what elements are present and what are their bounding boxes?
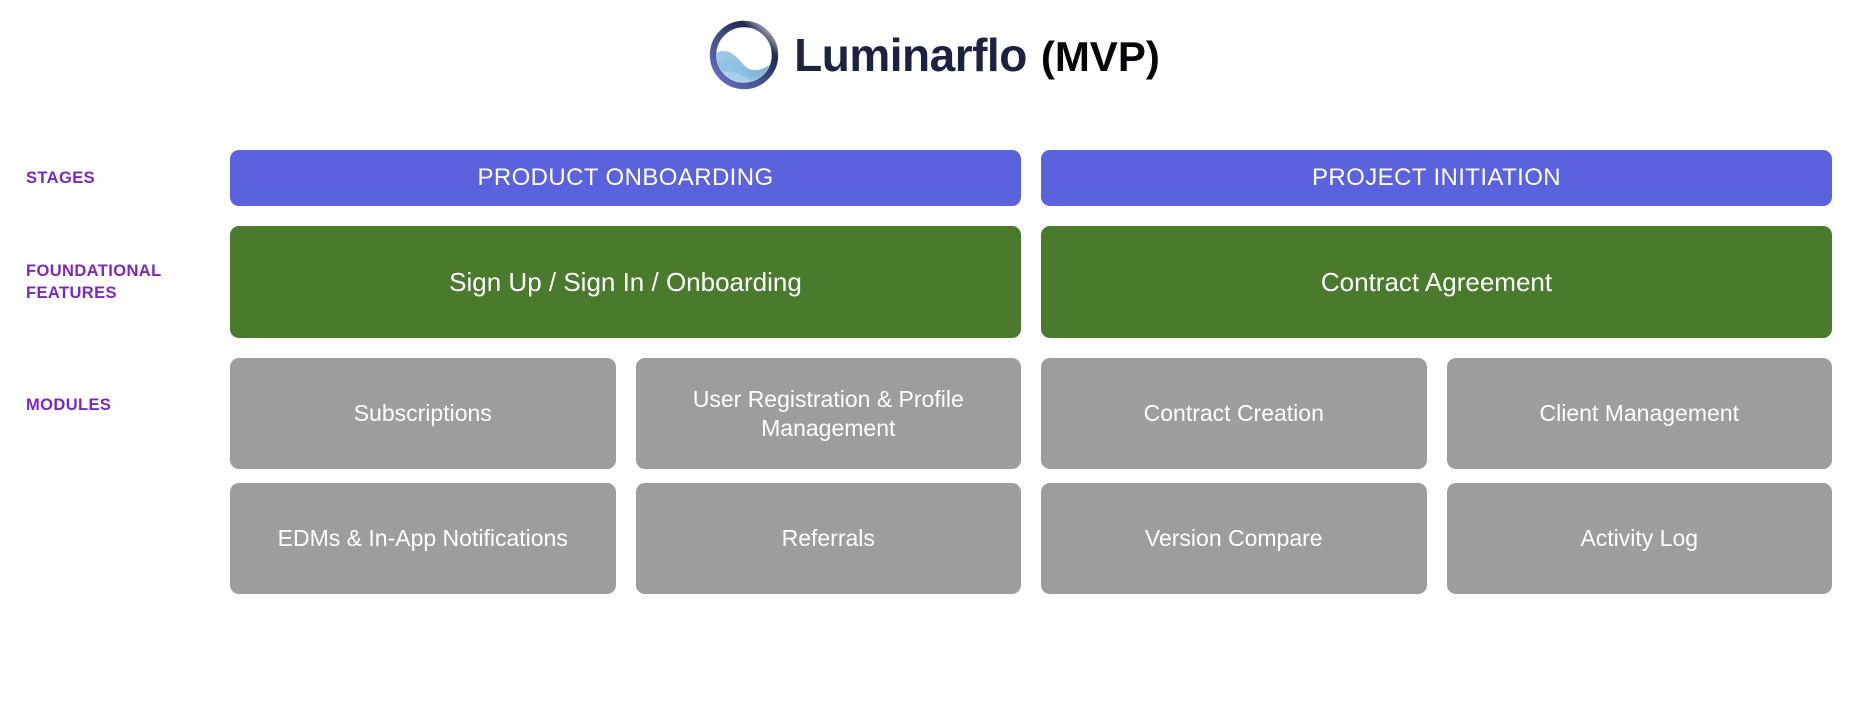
foundational-features-row-label: FOUNDATIONALFEATURES — [26, 260, 162, 305]
module-row-spacer — [1041, 469, 1832, 483]
brand-name: Luminarflo — [794, 32, 1027, 78]
foundational-label-line1: FOUNDATIONAL — [26, 262, 162, 280]
brand-tag: (MVP) — [1041, 36, 1160, 78]
module-card-edms-in-app-notifications[interactable]: EDMs & In-App Notifications — [230, 483, 616, 594]
row-spacer — [0, 206, 1868, 226]
modules-row-label: MODULES — [26, 394, 111, 416]
module-card-contract-creation[interactable]: Contract Creation — [1041, 358, 1427, 469]
modules-column-product-onboarding: Subscriptions User Registration & Profil… — [230, 358, 1021, 594]
brand-title-group: Luminarflo (MVP) — [794, 32, 1160, 78]
stage-card-product-onboarding[interactable]: PRODUCT ONBOARDING — [230, 150, 1021, 206]
module-card-activity-log[interactable]: Activity Log — [1447, 483, 1833, 594]
foundational-column-product-onboarding: Sign Up / Sign In / Onboarding — [230, 226, 1021, 338]
foundational-label-line2: FEATURES — [26, 284, 117, 302]
stages-row: STAGES PRODUCT ONBOARDING PROJECT INITIA… — [0, 150, 1868, 206]
modules-row1-product-onboarding: Subscriptions User Registration & Profil… — [230, 358, 1021, 469]
foundational-column-project-initiation: Contract Agreement — [1041, 226, 1832, 338]
modules-row2-project-initiation: Version Compare Activity Log — [1041, 483, 1832, 594]
foundational-features-row-content: Sign Up / Sign In / Onboarding Contract … — [230, 226, 1868, 338]
modules-row-content: Subscriptions User Registration & Profil… — [230, 358, 1868, 594]
stage-matrix: STAGES PRODUCT ONBOARDING PROJECT INITIA… — [0, 150, 1868, 594]
page-header: Luminarflo (MVP) — [0, 0, 1868, 90]
modules-row2-product-onboarding: EDMs & In-App Notifications Referrals — [230, 483, 1021, 594]
stages-row-label: STAGES — [26, 167, 95, 189]
modules-row: MODULES Subscriptions User Registration … — [0, 358, 1868, 594]
module-card-user-registration-profile-management[interactable]: User Registration & Profile Management — [636, 358, 1022, 469]
module-card-subscriptions[interactable]: Subscriptions — [230, 358, 616, 469]
modules-column-project-initiation: Contract Creation Client Management Vers… — [1041, 358, 1832, 594]
module-card-referrals[interactable]: Referrals — [636, 483, 1022, 594]
modules-row1-project-initiation: Contract Creation Client Management — [1041, 358, 1832, 469]
foundational-features-row-label-cell: FOUNDATIONALFEATURES — [0, 226, 230, 338]
module-card-client-management[interactable]: Client Management — [1447, 358, 1833, 469]
row-spacer — [0, 338, 1868, 358]
modules-row-label-cell: MODULES — [0, 358, 230, 594]
luminarflo-wave-circle-logo-icon — [708, 19, 780, 91]
module-row-spacer — [230, 469, 1021, 483]
roadmap-matrix-page: Luminarflo (MVP) STAGES PRODUCT ONBOARDI… — [0, 0, 1868, 725]
stage-column-product-onboarding: PRODUCT ONBOARDING — [230, 150, 1021, 206]
foundational-card-contract-agreement[interactable]: Contract Agreement — [1041, 226, 1832, 338]
foundational-card-sign-up-sign-in-onboarding[interactable]: Sign Up / Sign In / Onboarding — [230, 226, 1021, 338]
stage-card-project-initiation[interactable]: PROJECT INITIATION — [1041, 150, 1832, 206]
stages-row-label-cell: STAGES — [0, 150, 230, 206]
foundational-features-row: FOUNDATIONALFEATURES Sign Up / Sign In /… — [0, 226, 1868, 338]
module-card-version-compare[interactable]: Version Compare — [1041, 483, 1427, 594]
stages-row-content: PRODUCT ONBOARDING PROJECT INITIATION — [230, 150, 1868, 206]
stage-column-project-initiation: PROJECT INITIATION — [1041, 150, 1832, 206]
